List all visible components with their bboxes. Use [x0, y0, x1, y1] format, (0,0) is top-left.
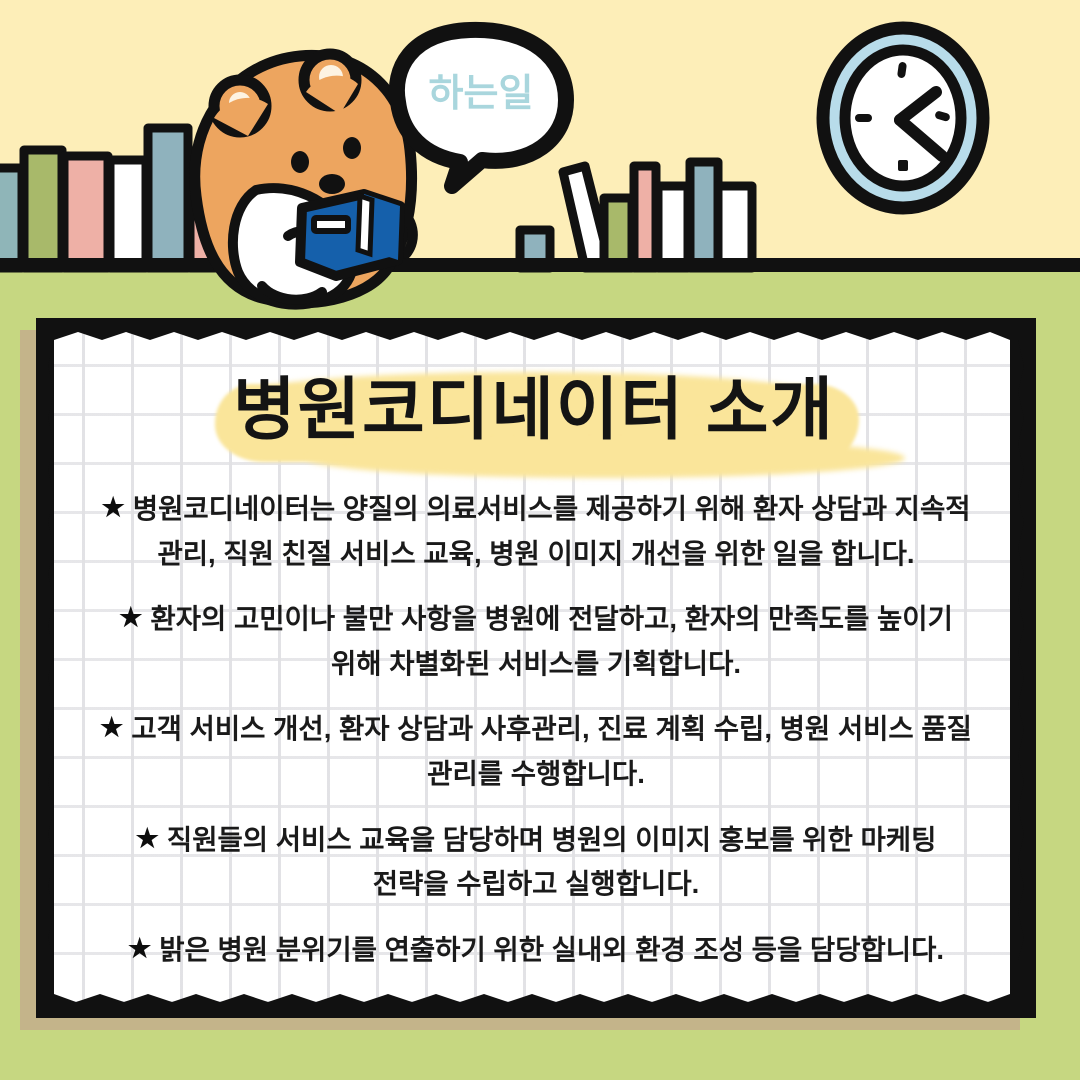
clock-tick-6 — [898, 160, 908, 171]
hamster-eye-right — [343, 137, 361, 159]
hamster-character — [195, 54, 413, 305]
wall-clock — [823, 28, 983, 208]
list-item: ★고객 서비스 개선, 환자 상담과 사후관리, 진료 계획 수립, 병원 서비… — [70, 706, 1002, 796]
star-icon: ★ — [128, 933, 151, 963]
hamster-nose — [319, 174, 345, 194]
list-item: ★병원코디네이터는 양질의 의료서비스를 제공하기 위해 환자 상담과 지속적 … — [70, 486, 1002, 576]
star-icon: ★ — [101, 492, 124, 522]
page-title: 병원코디네이터 소개 — [233, 370, 835, 450]
shelf-line — [0, 258, 1080, 272]
list-item-text: 직원들의 서비스 교육을 담당하며 병원의 이미지 홍보를 위한 마케팅 전략을… — [167, 824, 937, 900]
list-item-text: 병원코디네이터는 양질의 의료서비스를 제공하기 위해 환자 상담과 지속적 관… — [133, 493, 971, 569]
note-card: 병원코디네이터 소개 ★병원코디네이터는 양질의 의료서비스를 제공하기 위해 … — [36, 318, 1036, 1018]
list-item-text: 고객 서비스 개선, 환자 상담과 사후관리, 진료 계획 수립, 병원 서비스… — [131, 713, 972, 789]
star-icon: ★ — [119, 602, 142, 632]
list-item-text: 밝은 병원 분위기를 연출하기 위한 실내외 환경 조성 등을 담당합니다. — [159, 934, 944, 965]
star-icon: ★ — [136, 823, 159, 853]
star-icon: ★ — [100, 712, 123, 742]
list-item: ★밝은 병원 분위기를 연출하기 위한 실내외 환경 조성 등을 담당합니다. — [70, 927, 1002, 973]
note-card-content: 병원코디네이터 소개 ★병원코디네이터는 양질의 의료서비스를 제공하기 위해 … — [36, 318, 1036, 1018]
hamster-eye-left — [291, 151, 309, 173]
clock-tick-9 — [855, 114, 872, 122]
book-pages — [358, 196, 372, 254]
hamster-book — [300, 194, 400, 276]
page-title-wrap: 병원코디네이터 소개 — [211, 370, 861, 450]
list-item: ★직원들의 서비스 교육을 담당하며 병원의 이미지 홍보를 위한 마케팅 전략… — [70, 817, 1002, 907]
book-label — [314, 218, 348, 231]
bullet-list: ★병원코디네이터는 양질의 의료서비스를 제공하기 위해 환자 상담과 지속적 … — [70, 486, 1002, 972]
list-item: ★환자의 고민이나 불만 사항을 병원에 전달하고, 환자의 만족도를 높이기 … — [70, 596, 1002, 686]
list-item-text: 환자의 고민이나 불만 사항을 병원에 전달하고, 환자의 만족도를 높이기 위… — [150, 603, 952, 679]
speech-bubble-label: 하는일 — [429, 73, 534, 115]
